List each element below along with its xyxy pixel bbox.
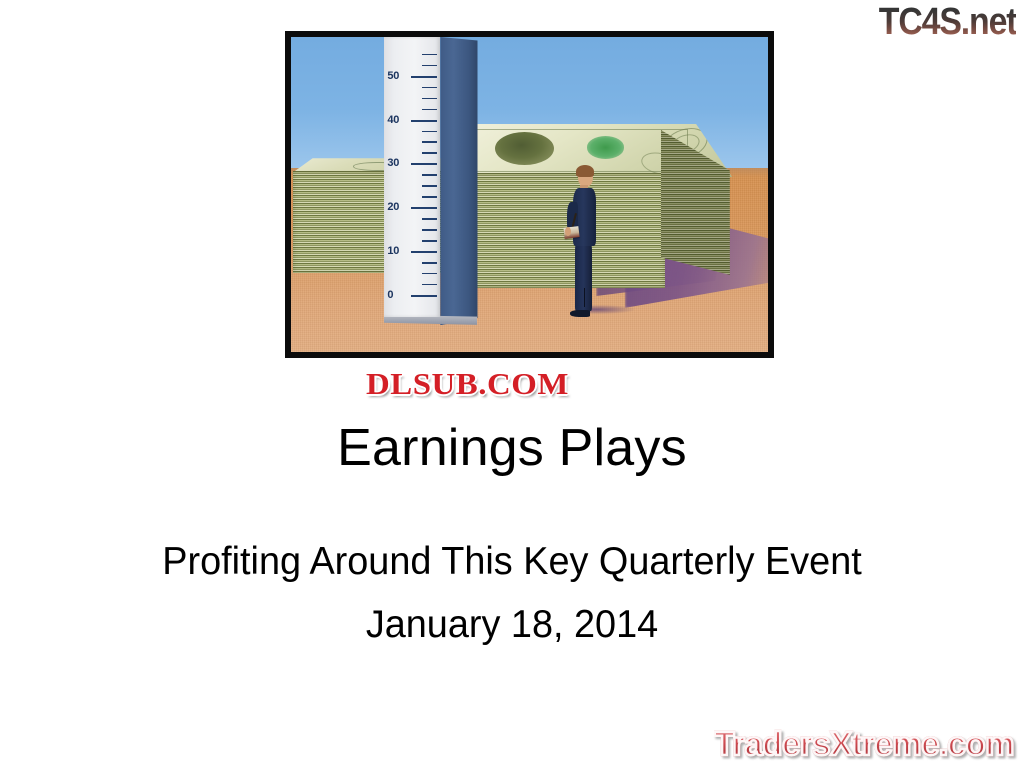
ruler-tick-label: 40 bbox=[387, 114, 399, 126]
ruler-major-tick bbox=[411, 251, 437, 253]
dlsub-watermark: DLSUB.COM bbox=[366, 366, 569, 402]
ruler-minor-tick bbox=[422, 141, 437, 143]
businessman-shadow bbox=[587, 305, 634, 314]
ruler-major-tick bbox=[411, 76, 437, 78]
illustration-canvas: 50403020100 bbox=[291, 37, 768, 352]
ruler-tick-label: 30 bbox=[387, 157, 399, 169]
ruler-tick-label: 20 bbox=[387, 201, 399, 213]
ruler-minor-tick bbox=[422, 218, 437, 220]
ruler-minor-tick bbox=[422, 131, 437, 133]
ruler-minor-tick bbox=[422, 152, 437, 154]
ruler-minor-tick bbox=[422, 196, 437, 198]
ruler-minor-tick bbox=[422, 284, 437, 286]
page-title: Earnings Plays bbox=[0, 419, 1024, 477]
ruler-major-tick bbox=[411, 163, 437, 165]
page-date: January 18, 2014 bbox=[15, 603, 1008, 648]
ruler-tick-label: 10 bbox=[387, 245, 399, 257]
ruler-tick-label: 50 bbox=[387, 70, 399, 82]
ruler-minor-tick bbox=[422, 262, 437, 264]
ruler-tick-label: 0 bbox=[387, 289, 393, 301]
businessman-hair bbox=[576, 165, 594, 178]
ruler-minor-tick bbox=[422, 229, 437, 231]
businessman-leg-split bbox=[584, 288, 586, 307]
ruler-minor-tick bbox=[422, 98, 437, 100]
illustration-frame: 50403020100 bbox=[285, 31, 774, 358]
ruler-major-tick bbox=[411, 207, 437, 209]
ruler-minor-tick bbox=[422, 65, 437, 67]
businessman-shoe bbox=[570, 310, 590, 317]
ruler-minor-tick bbox=[422, 87, 437, 89]
ruler-minor-tick bbox=[422, 174, 437, 176]
ruler-measuring-stick: 50403020100 bbox=[384, 37, 440, 317]
ruler-minor-tick bbox=[422, 185, 437, 187]
businessman-hand bbox=[565, 227, 571, 236]
ruler-minor-tick bbox=[422, 109, 437, 111]
bill-green-seal bbox=[587, 136, 625, 158]
ruler-minor-tick bbox=[422, 54, 437, 56]
ruler-minor-tick bbox=[422, 240, 437, 242]
ruler-major-tick bbox=[411, 120, 437, 122]
ruler-side-face bbox=[440, 37, 477, 325]
ruler-major-tick bbox=[411, 295, 437, 297]
ruler-minor-tick bbox=[422, 273, 437, 275]
page-subtitle: Profiting Around This Key Quarterly Even… bbox=[15, 540, 1008, 585]
businessman-figure bbox=[565, 166, 601, 317]
businessman-legs bbox=[575, 242, 592, 312]
tc4s-site-logo: TC4S.net bbox=[878, 2, 1016, 40]
tradersxtreme-brand-logo: TradersXtreme.com bbox=[714, 727, 1014, 760]
